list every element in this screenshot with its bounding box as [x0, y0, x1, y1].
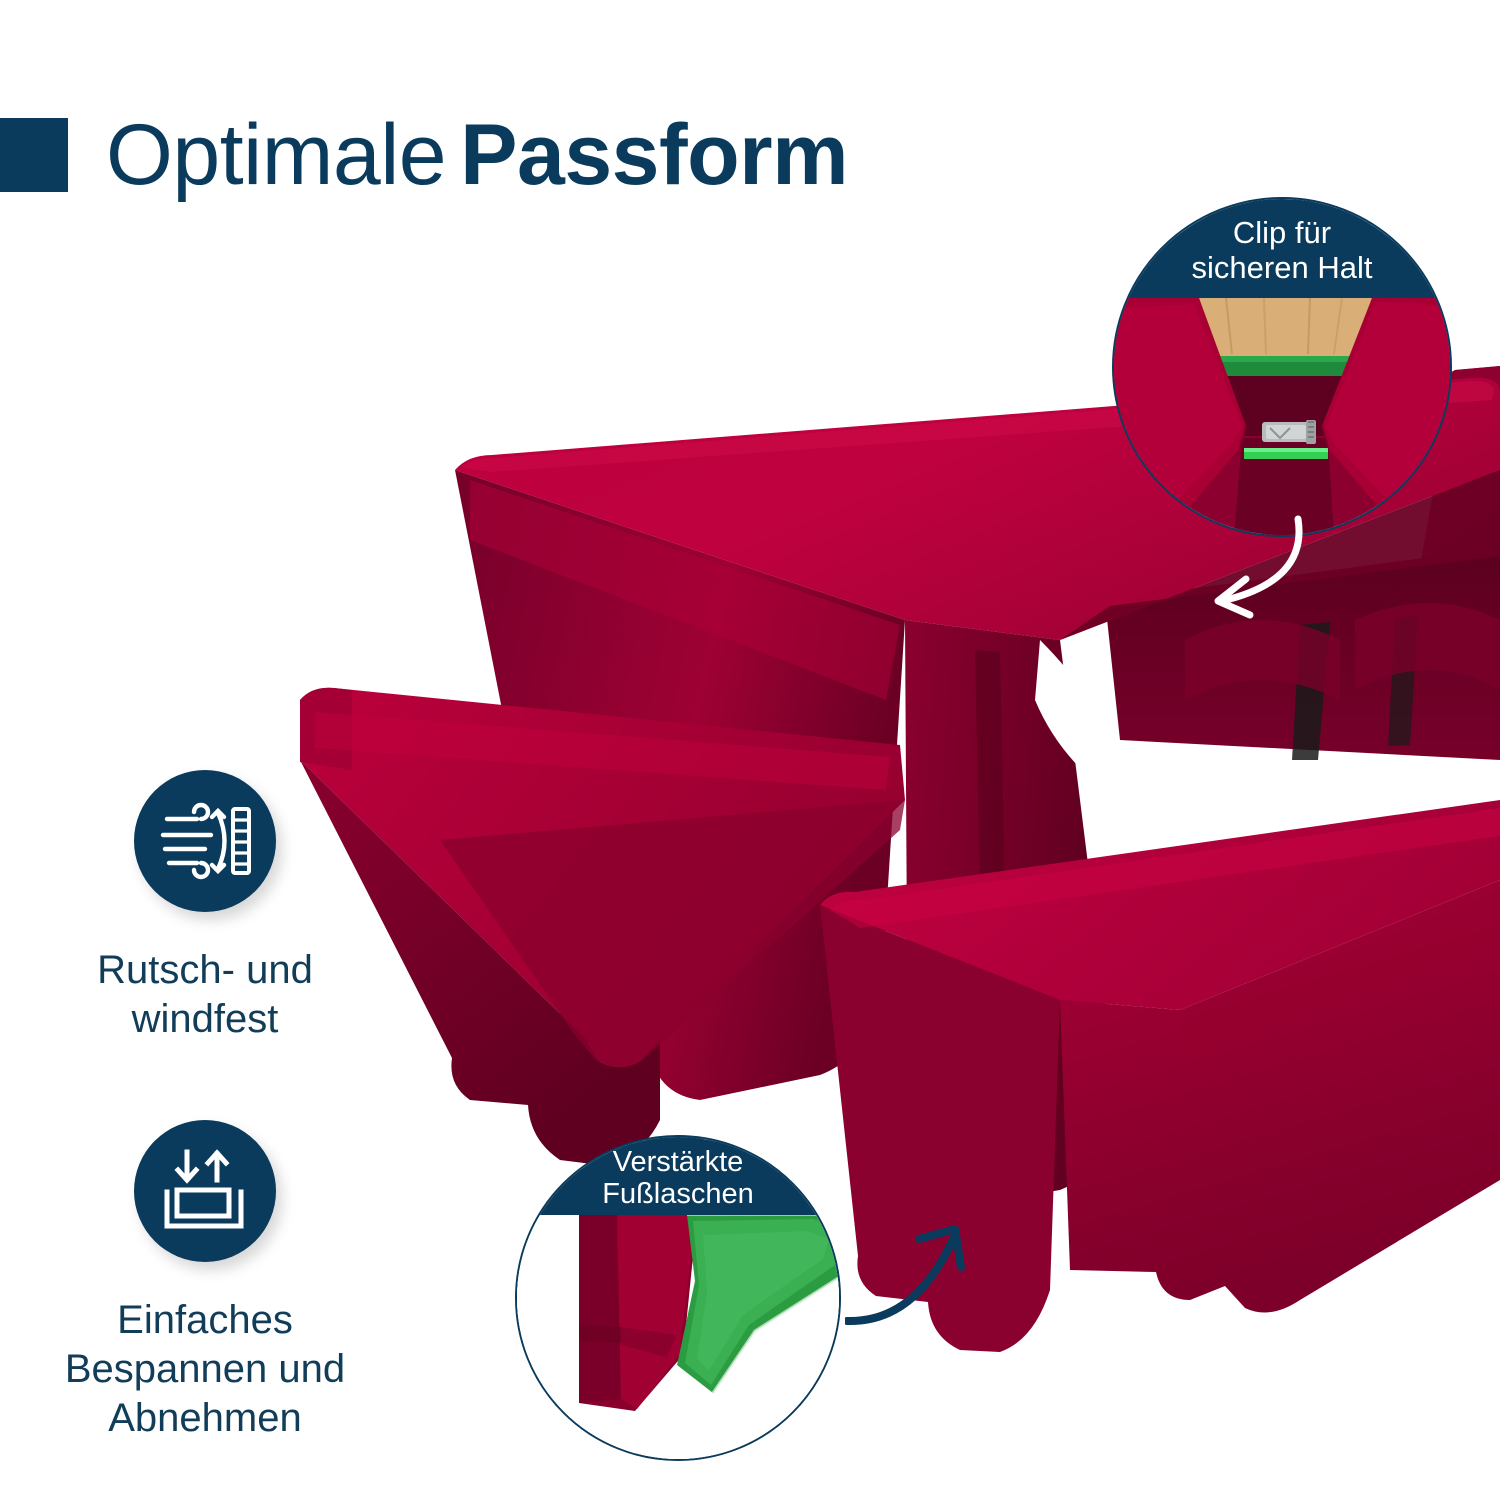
table-underside [1105, 548, 1500, 760]
callout-clip[interactable]: Clip für sicheren Halt [1112, 197, 1452, 537]
feature-label: Einfaches Bespannen und Abnehmen [40, 1296, 370, 1442]
feature-einfaches-bespannen: Einfaches Bespannen und Abnehmen [40, 1120, 370, 1442]
gap-highlight [1035, 640, 1118, 800]
callout-foot-label: Verstärkte Fußlaschen [602, 1142, 754, 1211]
page-header: OptimalePassform [0, 100, 1100, 210]
callout-clip-photo [1114, 298, 1450, 537]
callout-foot-flaps[interactable]: Verstärkte Fußlaschen [515, 1135, 841, 1461]
callout-clip-label: Clip für sicheren Halt [1192, 212, 1373, 285]
foot-flap-illustration [517, 1215, 839, 1461]
page-title: OptimalePassform [106, 112, 848, 198]
page-title-light: Optimale [106, 107, 446, 203]
curved-arrow-up-right-icon [845, 1205, 1030, 1335]
header-accent-swatch [0, 118, 68, 192]
wind-stretch-glyph [157, 795, 253, 887]
feature-rutsch-und-windfest: Rutsch- und windfest [40, 770, 370, 1044]
callout-clip-band: Clip für sicheren Halt [1114, 199, 1450, 298]
page-title-bold: Passform [460, 107, 848, 203]
clip-detail-illustration [1114, 298, 1450, 537]
feature-label: Rutsch- und windfest [40, 946, 370, 1044]
infographic-canvas: OptimalePassform Rutsch- und wi [0, 0, 1500, 1500]
wind-stretch-icon [134, 770, 276, 912]
put-on-take-off-glyph [159, 1148, 251, 1234]
clip-buckle [1262, 420, 1316, 444]
callout-foot-photo [517, 1215, 839, 1461]
bench-front-right [820, 800, 1500, 1452]
put-on-take-off-icon [134, 1120, 276, 1262]
callout-foot-band: Verstärkte Fußlaschen [517, 1137, 839, 1215]
